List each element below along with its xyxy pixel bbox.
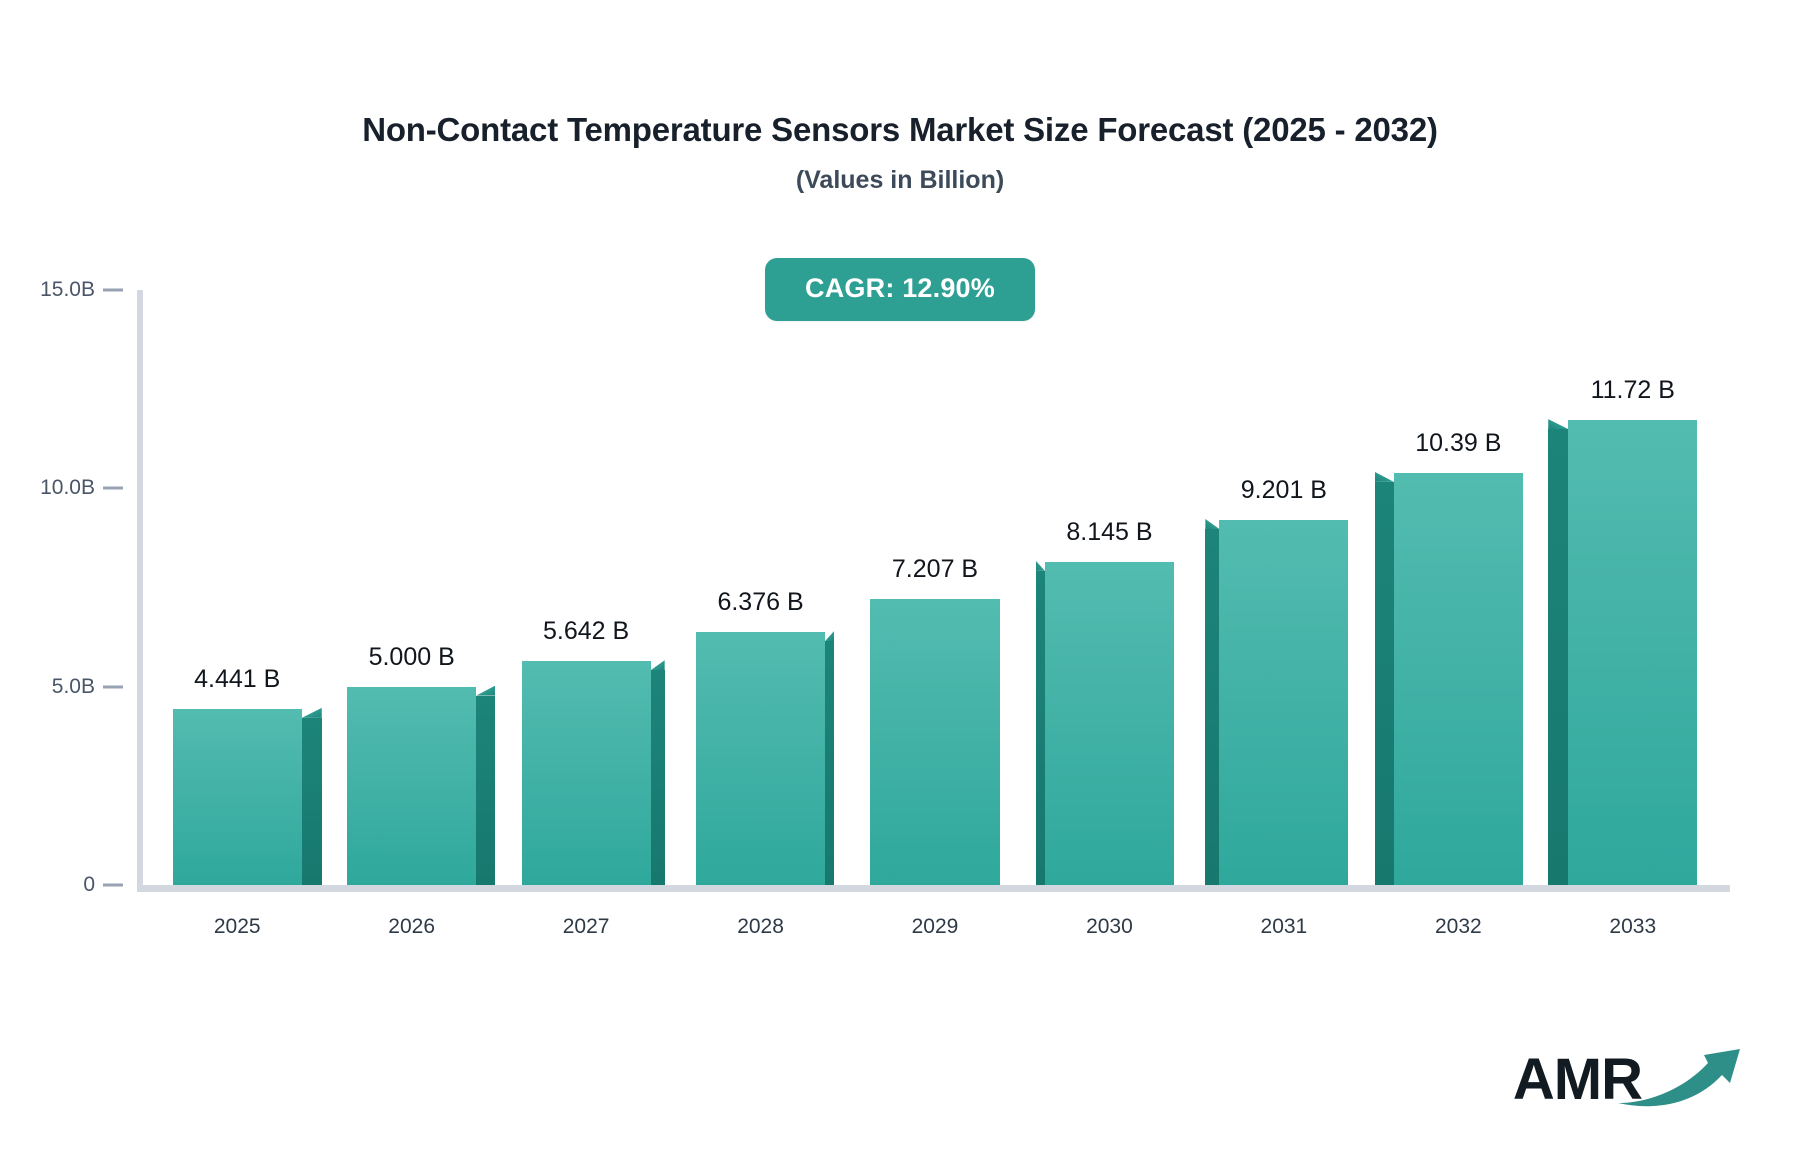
y-axis-tick-mark <box>103 685 123 688</box>
bar-front-face <box>870 599 999 885</box>
bar-side-face <box>651 670 665 885</box>
x-axis-tick-label: 2030 <box>1022 915 1196 939</box>
bar-value-label: 5.642 B <box>543 617 629 646</box>
x-axis-tick-label: 2029 <box>848 915 1022 939</box>
bar-side-face <box>1548 429 1568 885</box>
bar[interactable] <box>173 0 302 885</box>
bar-front-face <box>1219 520 1348 885</box>
chart-canvas: Non-Contact Temperature Sensors Market S… <box>0 0 1800 1156</box>
bar[interactable] <box>696 0 825 885</box>
bar-front-face <box>1045 562 1174 885</box>
bar[interactable] <box>1568 0 1697 885</box>
bar-top-face <box>1548 419 1568 429</box>
bar-side-face <box>1205 529 1219 885</box>
x-axis-tick-label: 2028 <box>673 915 847 939</box>
x-axis-tick-label: 2033 <box>1546 915 1720 939</box>
bar-side-face <box>476 696 495 885</box>
bar-front-face <box>696 632 825 885</box>
upward-trend-arrow-icon <box>1612 1041 1752 1116</box>
bar-value-label: 5.000 B <box>369 643 455 672</box>
bar[interactable] <box>522 0 651 885</box>
x-axis-tick-label: 2026 <box>324 915 498 939</box>
bar-value-label: 11.72 B <box>1591 376 1675 405</box>
y-axis-tick-label: 0 <box>83 873 95 897</box>
amr-logo: AMR <box>1513 1041 1752 1118</box>
bar[interactable] <box>1219 0 1348 885</box>
plot-area: 05.0B10.0B15.0B4.441 B20255.000 B20265.6… <box>0 0 1800 1156</box>
bar-side-face <box>825 641 834 885</box>
y-axis-line <box>137 290 143 889</box>
x-axis-tick-label: 2031 <box>1197 915 1371 939</box>
bar-side-face <box>302 718 322 885</box>
bar-value-label: 8.145 B <box>1066 518 1152 547</box>
y-axis-tick-label: 5.0B <box>52 675 95 699</box>
y-axis-tick-label: 10.0B <box>40 476 95 500</box>
bar-top-face <box>651 660 665 670</box>
y-axis-tick-label: 15.0B <box>40 278 95 302</box>
y-axis-tick-mark <box>103 487 123 490</box>
bar-value-label: 4.441 B <box>194 665 280 694</box>
bar-side-face <box>1036 571 1045 885</box>
bar-side-face <box>1375 482 1394 885</box>
bar-front-face <box>173 709 302 885</box>
bar-top-face <box>1375 472 1394 482</box>
bar[interactable] <box>347 0 476 885</box>
bar-value-label: 7.207 B <box>892 555 978 584</box>
y-axis-tick-mark <box>103 289 123 292</box>
x-axis-tick-label: 2025 <box>150 915 324 939</box>
bar[interactable] <box>1045 0 1174 885</box>
bar-top-face <box>825 631 834 641</box>
bar-value-label: 9.201 B <box>1241 476 1327 505</box>
bar-top-face <box>1205 519 1219 529</box>
bar-value-label: 6.376 B <box>717 588 803 617</box>
y-axis-tick-mark <box>103 884 123 887</box>
bar-value-label: 10.39 B <box>1415 429 1501 458</box>
bar-front-face <box>1568 420 1697 885</box>
bar-top-face <box>476 686 495 696</box>
bar-top-face <box>302 708 322 718</box>
bar-top-face <box>1036 561 1045 571</box>
x-axis-tick-label: 2032 <box>1371 915 1545 939</box>
x-axis-line <box>137 885 1730 892</box>
bar-front-face <box>522 661 651 885</box>
bar[interactable] <box>870 0 999 885</box>
bar-front-face <box>347 687 476 885</box>
x-axis-tick-label: 2027 <box>499 915 673 939</box>
bar-front-face <box>1394 473 1523 885</box>
